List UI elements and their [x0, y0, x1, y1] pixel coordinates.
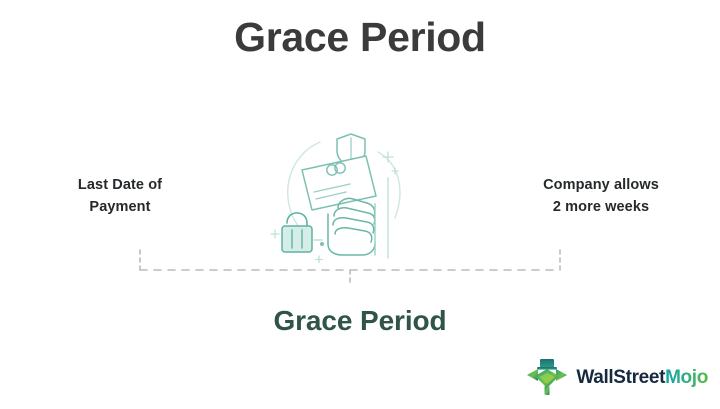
label-right-line-2: 2 more weeks [498, 196, 704, 218]
label-company-allows: Company allows 2 more weeks [498, 174, 704, 219]
wallstreetmojo-wordmark: WallStreetMojo [576, 368, 708, 387]
hand-holding-credit-card-illustration [262, 118, 432, 263]
logo-text-wallstreet: WallStreet [576, 367, 665, 388]
grace-period-infographic: Grace Period Last Date of Payment Compan… [0, 0, 720, 409]
label-left-line-2: Payment [22, 196, 218, 218]
logo-text-mojo: Mojo [665, 367, 708, 388]
wallstreetmojo-logo[interactable]: WallStreetMojo [525, 357, 708, 397]
grace-period-span-bracket [138, 248, 562, 290]
caption-grace-period: Grace Period [0, 305, 720, 337]
wallstreetmojo-emblem-icon [525, 357, 569, 397]
label-last-date-of-payment: Last Date of Payment [22, 174, 218, 219]
label-right-line-1: Company allows [498, 174, 704, 196]
label-left-line-1: Last Date of [22, 174, 218, 196]
page-title: Grace Period [0, 14, 720, 61]
